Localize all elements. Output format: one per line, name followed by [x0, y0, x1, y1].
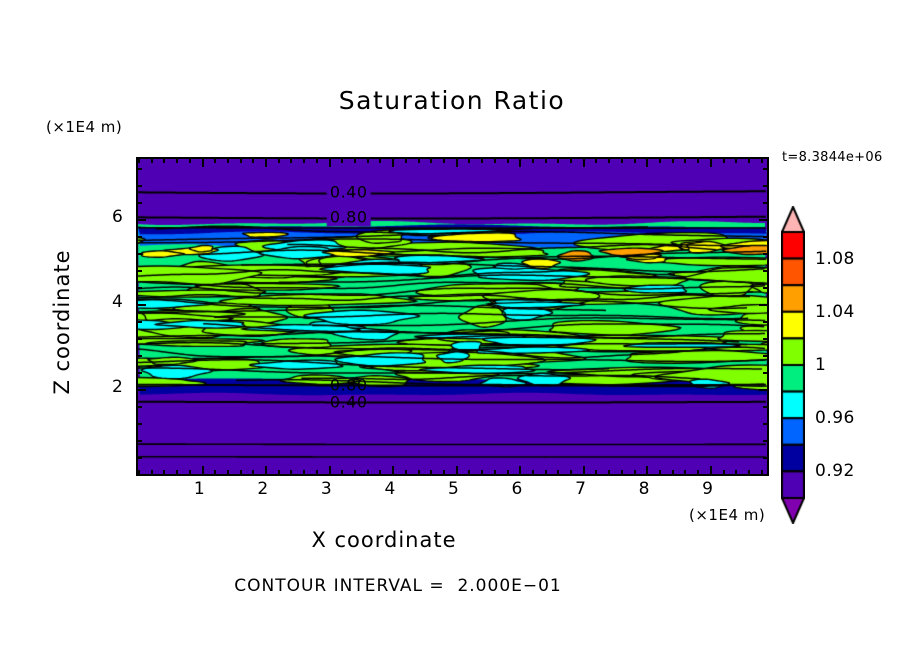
x-tick-label: 2: [257, 479, 268, 499]
y-tick: [763, 423, 767, 425]
x-tick: [545, 470, 547, 474]
colorbar-tick-label: 1: [815, 355, 826, 375]
x-tick: [723, 470, 725, 474]
y-tick: [763, 457, 767, 459]
x-tick-label: 1: [194, 479, 205, 499]
x-tick: [608, 470, 610, 474]
y-tick-label: 6: [112, 207, 123, 227]
x-tick: [735, 470, 737, 474]
x-tick: [252, 470, 254, 474]
y-tick: [138, 372, 142, 374]
x-axis-units-label: (×1E4 m): [689, 506, 765, 524]
x-tick: [634, 470, 636, 474]
page-title: Saturation Ratio: [0, 86, 904, 115]
x-tick: [240, 470, 242, 474]
x-tick: [240, 159, 242, 163]
x-tick: [202, 466, 204, 474]
x-tick: [684, 159, 686, 163]
x-tick: [710, 159, 712, 167]
x-tick: [189, 159, 191, 163]
y-tick: [138, 406, 142, 408]
colorbar-tick-label: 0.96: [815, 408, 855, 428]
x-tick-label: 6: [512, 479, 523, 499]
y-tick: [138, 423, 142, 425]
x-tick: [710, 466, 712, 474]
contour-field-canvas: [138, 159, 767, 474]
x-tick: [697, 470, 699, 474]
x-tick: [176, 470, 178, 474]
x-tick: [189, 470, 191, 474]
y-tick: [138, 253, 142, 255]
x-tick: [557, 470, 559, 474]
x-tick: [214, 470, 216, 474]
x-tick-label: 7: [575, 479, 586, 499]
x-tick: [163, 159, 165, 163]
y-tick: [763, 253, 767, 255]
y-tick: [763, 270, 767, 272]
y-tick: [138, 287, 142, 289]
x-tick: [214, 159, 216, 163]
x-tick: [456, 159, 458, 167]
x-tick: [748, 470, 750, 474]
x-tick: [290, 470, 292, 474]
y-tick: [763, 406, 767, 408]
x-tick: [684, 470, 686, 474]
x-tick: [481, 470, 483, 474]
y-tick: [763, 338, 767, 340]
x-tick: [163, 470, 165, 474]
x-tick: [532, 470, 534, 474]
x-tick-label: 4: [384, 479, 395, 499]
x-tick: [278, 470, 280, 474]
x-tick: [748, 159, 750, 163]
x-tick: [367, 159, 369, 163]
x-tick: [227, 159, 229, 163]
x-tick: [290, 159, 292, 163]
x-tick: [379, 159, 381, 163]
x-tick: [354, 159, 356, 163]
x-tick: [570, 159, 572, 163]
y-tick: [763, 355, 767, 357]
x-tick: [621, 470, 623, 474]
x-tick: [659, 159, 661, 163]
x-tick: [672, 159, 674, 163]
colorbar-tick-label: 0.92: [815, 461, 855, 481]
y-tick: [138, 202, 142, 204]
x-tick: [507, 470, 509, 474]
x-tick: [735, 159, 737, 163]
x-tick: [646, 466, 648, 474]
y-tick: [138, 168, 142, 170]
x-tick: [392, 159, 394, 167]
x-tick: [468, 159, 470, 163]
x-tick: [659, 470, 661, 474]
x-tick: [481, 159, 483, 163]
x-tick: [341, 159, 343, 163]
colorbar-canvas: [781, 206, 805, 524]
x-tick: [303, 159, 305, 163]
x-tick: [379, 470, 381, 474]
x-tick: [595, 470, 597, 474]
y-tick-label: 2: [112, 377, 123, 397]
contour-level-label: 0.40: [330, 392, 368, 411]
x-tick: [151, 470, 153, 474]
y-tick: [763, 440, 767, 442]
x-tick: [672, 470, 674, 474]
contour-plot-area[interactable]: 0.400.800.800.40: [136, 157, 769, 476]
x-tick: [278, 159, 280, 163]
y-tick: [763, 372, 767, 374]
y-tick: [759, 304, 767, 306]
x-tick: [519, 466, 521, 474]
x-tick: [697, 159, 699, 163]
y-tick: [138, 236, 142, 238]
y-tick: [763, 287, 767, 289]
x-tick: [595, 159, 597, 163]
y-tick: [138, 338, 142, 340]
x-tick: [202, 159, 204, 167]
y-tick: [138, 440, 142, 442]
x-tick: [329, 159, 331, 167]
x-tick: [570, 470, 572, 474]
x-tick: [557, 159, 559, 163]
colorbar[interactable]: [781, 206, 805, 524]
y-tick: [759, 219, 767, 221]
x-tick: [519, 159, 521, 167]
y-tick: [138, 219, 146, 221]
y-tick: [138, 304, 146, 306]
x-tick: [329, 466, 331, 474]
y-tick-label: 4: [112, 292, 123, 312]
x-tick: [494, 470, 496, 474]
x-tick: [303, 470, 305, 474]
x-tick: [583, 159, 585, 167]
y-tick: [763, 474, 767, 476]
x-tick: [430, 159, 432, 163]
y-tick: [763, 202, 767, 204]
x-tick-label: 8: [639, 479, 650, 499]
x-tick: [507, 159, 509, 163]
time-annotation: t=8.3844e+06: [782, 150, 883, 165]
x-axis-title: X coordinate: [0, 528, 836, 552]
x-tick: [621, 159, 623, 163]
x-tick: [634, 159, 636, 163]
colorbar-tick-label: 1.04: [815, 302, 855, 322]
x-tick: [494, 159, 496, 163]
contour-interval-note: CONTOUR INTERVAL = 2.000E−01: [0, 576, 850, 596]
y-tick: [763, 321, 767, 323]
x-tick: [418, 470, 420, 474]
x-tick: [354, 470, 356, 474]
x-tick: [265, 159, 267, 167]
y-tick: [138, 457, 142, 459]
y-tick: [759, 389, 767, 391]
x-tick: [608, 159, 610, 163]
y-tick: [138, 270, 142, 272]
x-tick: [532, 159, 534, 163]
x-tick: [316, 470, 318, 474]
x-tick: [392, 466, 394, 474]
x-tick: [456, 466, 458, 474]
x-tick: [430, 470, 432, 474]
x-tick: [583, 466, 585, 474]
y-tick: [763, 168, 767, 170]
x-tick: [405, 470, 407, 474]
x-tick: [316, 159, 318, 163]
x-tick: [341, 470, 343, 474]
x-tick: [723, 159, 725, 163]
y-tick: [138, 185, 142, 187]
x-tick: [646, 159, 648, 167]
x-tick-label: 3: [321, 479, 332, 499]
y-tick: [138, 355, 142, 357]
y-axis-units-label: (×1E4 m): [46, 118, 122, 136]
x-tick: [367, 470, 369, 474]
x-tick: [151, 159, 153, 163]
x-tick: [761, 159, 763, 163]
y-axis-title: Z coordinate: [50, 232, 74, 412]
y-tick: [138, 389, 146, 391]
x-tick: [443, 470, 445, 474]
x-tick-label: 9: [702, 479, 713, 499]
x-tick: [252, 159, 254, 163]
contour-level-label: 0.40: [330, 183, 368, 202]
y-tick: [763, 185, 767, 187]
colorbar-tick-label: 1.08: [815, 249, 855, 269]
y-tick: [138, 474, 142, 476]
y-tick: [138, 321, 142, 323]
y-tick: [763, 236, 767, 238]
x-tick: [405, 159, 407, 163]
x-tick: [265, 466, 267, 474]
x-tick: [468, 470, 470, 474]
x-tick: [418, 159, 420, 163]
x-tick: [443, 159, 445, 163]
x-tick: [176, 159, 178, 163]
contour-level-label: 0.80: [330, 208, 368, 227]
x-tick: [138, 159, 140, 163]
x-tick: [545, 159, 547, 163]
x-tick: [227, 470, 229, 474]
x-tick-label: 5: [448, 479, 459, 499]
